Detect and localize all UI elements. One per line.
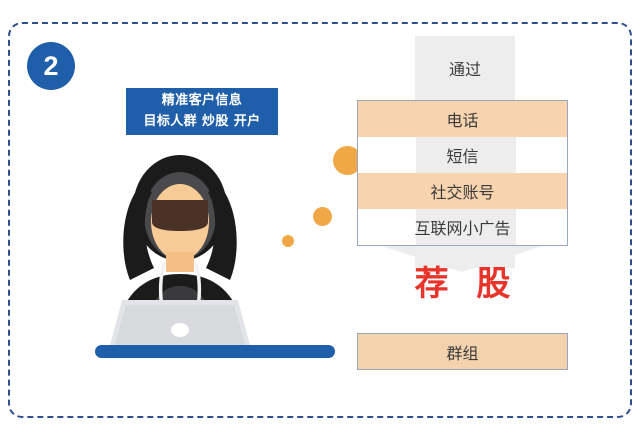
group-box[interactable]: 群组 — [357, 333, 568, 370]
channel-item-sms[interactable]: 短信 — [358, 137, 567, 173]
flow-dot-medium — [313, 207, 332, 226]
step-number-badge: 2 — [27, 42, 75, 90]
channel-list-box: 电话 短信 社交账号 互联网小广告 — [357, 100, 568, 246]
caption-line-1: 精准客户信息 — [162, 91, 242, 111]
step-number-label: 2 — [43, 53, 58, 80]
caption-line-2: 目标人群 炒股 开户 — [143, 112, 260, 132]
hacker-icon — [80, 148, 280, 358]
channel-rows: 电话 短信 社交账号 互联网小广告 — [358, 101, 567, 245]
emphasis-text: 荐 股 — [357, 266, 568, 303]
infographic-canvas: 2 精准客户信息 目标人群 炒股 开户 — [0, 0, 640, 434]
channel-item-webads[interactable]: 互联网小广告 — [358, 209, 567, 245]
channel-item-phone[interactable]: 电话 — [358, 101, 567, 137]
hacker-illustration — [80, 148, 280, 358]
channel-item-social[interactable]: 社交账号 — [358, 173, 567, 209]
through-label: 通过 — [415, 62, 515, 78]
caption-box: 精准客户信息 目标人群 炒股 开户 — [126, 88, 278, 135]
flow-dot-small — [282, 235, 294, 247]
desk-bar — [95, 345, 335, 358]
